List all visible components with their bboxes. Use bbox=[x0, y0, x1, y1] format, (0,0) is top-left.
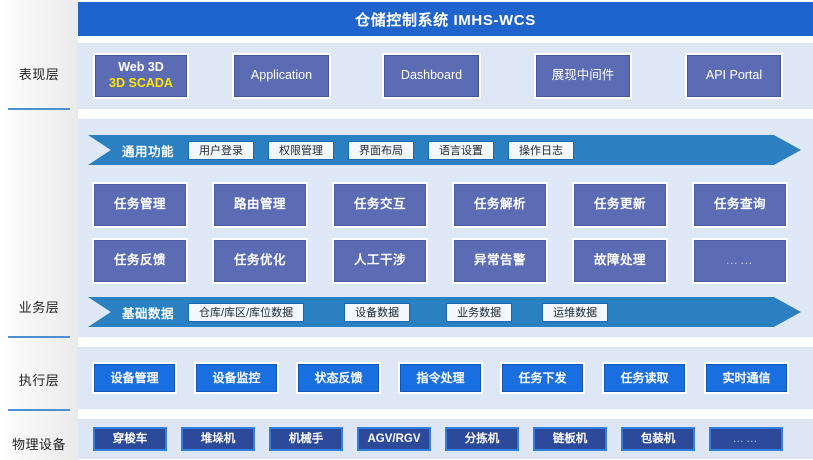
common-chip-layout[interactable]: 界面布局 bbox=[348, 141, 414, 160]
phys-box-sorter[interactable]: 分拣机 bbox=[445, 427, 519, 451]
common-chip-log[interactable]: 操作日志 bbox=[508, 141, 574, 160]
biz-box-task-optimize[interactable]: 任务优化 bbox=[214, 240, 306, 282]
base-data-title: 基础数据 bbox=[122, 303, 174, 322]
phys-box-shuttle[interactable]: 穿梭车 bbox=[93, 427, 167, 451]
exec-label: 设备管理 bbox=[110, 371, 158, 386]
exec-box-task-dispatch[interactable]: 任务下发 bbox=[502, 364, 583, 392]
architecture-diagram: 表现层 业务层 执行层 物理设备 仓储控制系统 IMHS-WCS Web 3D … bbox=[0, 0, 813, 460]
biz-box-manual-intervene[interactable]: 人工干涉 bbox=[334, 240, 426, 282]
biz-label: 任务解析 bbox=[474, 197, 526, 213]
pres-box-web3d-line1: Web 3D bbox=[118, 60, 164, 76]
page-title: 仓储控制系统 IMHS-WCS bbox=[355, 9, 536, 30]
exec-box-device-manage[interactable]: 设备管理 bbox=[94, 364, 175, 392]
biz-label: 路由管理 bbox=[234, 197, 286, 213]
biz-label: 任务更新 bbox=[594, 197, 646, 213]
pres-box-middleware-label: 展现中间件 bbox=[552, 68, 615, 84]
exec-box-command-process[interactable]: 指令处理 bbox=[400, 364, 481, 392]
phys-label: AGV/RGV bbox=[367, 432, 420, 446]
system-title-bar: 仓储控制系统 IMHS-WCS bbox=[78, 2, 813, 36]
rail-divider-2 bbox=[8, 336, 70, 338]
biz-label: 任务优化 bbox=[234, 253, 286, 269]
rail-label-execution: 执行层 bbox=[0, 370, 78, 389]
pres-box-dashboard-label: Dashboard bbox=[401, 68, 462, 84]
phys-label: 包装机 bbox=[641, 432, 676, 446]
pres-box-web3d[interactable]: Web 3D 3D SCADA bbox=[95, 55, 187, 97]
common-function-banner: 通用功能 用户登录 权限管理 界面布局 语言设置 操作日志 bbox=[88, 135, 801, 165]
exec-box-task-read[interactable]: 任务读取 bbox=[604, 364, 685, 392]
common-chip-language[interactable]: 语言设置 bbox=[428, 141, 494, 160]
phys-box-chain-conveyor[interactable]: 链板机 bbox=[533, 427, 607, 451]
common-chip-login[interactable]: 用户登录 bbox=[188, 141, 254, 160]
pres-box-application-label: Application bbox=[251, 68, 312, 84]
biz-label: 故障处理 bbox=[594, 253, 646, 269]
base-chip-device[interactable]: 设备数据 bbox=[344, 303, 410, 322]
common-chip-auth[interactable]: 权限管理 bbox=[268, 141, 334, 160]
biz-box-task-query[interactable]: 任务查询 bbox=[694, 184, 786, 226]
biz-label: 人工干涉 bbox=[354, 253, 406, 269]
phys-label: 分拣机 bbox=[465, 432, 500, 446]
rail-label-business: 业务层 bbox=[0, 297, 78, 316]
layer-rail: 表现层 业务层 执行层 物理设备 bbox=[0, 0, 78, 460]
rail-label-presentation: 表现层 bbox=[0, 64, 78, 83]
exec-label: 状态反馈 bbox=[314, 371, 362, 386]
exec-label: 实时通信 bbox=[722, 371, 770, 386]
phys-label: 堆垛机 bbox=[201, 432, 236, 446]
biz-box-task-manage[interactable]: 任务管理 bbox=[94, 184, 186, 226]
biz-box-route-manage[interactable]: 路由管理 bbox=[214, 184, 306, 226]
phys-box-robot-arm[interactable]: 机械手 bbox=[269, 427, 343, 451]
exec-box-status-feedback[interactable]: 状态反馈 bbox=[298, 364, 379, 392]
pres-box-application[interactable]: Application bbox=[234, 55, 329, 97]
phys-label: 链板机 bbox=[553, 432, 588, 446]
base-chip-ops[interactable]: 运维数据 bbox=[542, 303, 608, 322]
exec-label: 任务下发 bbox=[518, 371, 566, 386]
exec-label: 任务读取 bbox=[620, 371, 668, 386]
phys-label: 穿梭车 bbox=[113, 432, 148, 446]
phys-box-more[interactable]: …… bbox=[709, 427, 783, 451]
biz-label: …… bbox=[726, 253, 755, 269]
biz-label: 任务管理 bbox=[114, 197, 166, 213]
exec-label: 设备监控 bbox=[212, 371, 260, 386]
exec-label: 指令处理 bbox=[416, 371, 464, 386]
base-chip-business[interactable]: 业务数据 bbox=[446, 303, 512, 322]
biz-label: 任务交互 bbox=[354, 197, 406, 213]
phys-label: …… bbox=[733, 432, 760, 446]
rail-divider-3 bbox=[8, 409, 70, 411]
pres-box-api-portal-label: API Portal bbox=[706, 68, 762, 84]
biz-label: 异常告警 bbox=[474, 253, 526, 269]
exec-box-device-monitor[interactable]: 设备监控 bbox=[196, 364, 277, 392]
phys-box-packer[interactable]: 包装机 bbox=[621, 427, 695, 451]
biz-label: 任务反馈 bbox=[114, 253, 166, 269]
biz-box-task-interact[interactable]: 任务交互 bbox=[334, 184, 426, 226]
presentation-layer-band: Web 3D 3D SCADA Application Dashboard 展现… bbox=[78, 43, 813, 109]
rail-label-physical: 物理设备 bbox=[0, 434, 78, 453]
pres-box-web3d-line2: 3D SCADA bbox=[109, 76, 173, 92]
pres-box-dashboard[interactable]: Dashboard bbox=[384, 55, 479, 97]
biz-box-task-parse[interactable]: 任务解析 bbox=[454, 184, 546, 226]
biz-label: 任务查询 bbox=[714, 197, 766, 213]
pres-box-api-portal[interactable]: API Portal bbox=[687, 55, 781, 97]
physical-layer-band: 穿梭车 堆垛机 机械手 AGV/RGV 分拣机 链板机 包装机 …… bbox=[78, 419, 813, 459]
biz-box-exception-alarm[interactable]: 异常告警 bbox=[454, 240, 546, 282]
biz-box-task-feedback[interactable]: 任务反馈 bbox=[94, 240, 186, 282]
common-function-title: 通用功能 bbox=[122, 141, 174, 160]
base-chip-warehouse[interactable]: 仓库/库区/库位数据 bbox=[188, 303, 304, 322]
execution-layer-band: 设备管理 设备监控 状态反馈 指令处理 任务下发 任务读取 实时通信 bbox=[78, 347, 813, 409]
base-data-banner: 基础数据 仓库/库区/库位数据 设备数据 业务数据 运维数据 bbox=[88, 297, 801, 327]
pres-box-middleware[interactable]: 展现中间件 bbox=[536, 55, 630, 97]
business-layer-band: 通用功能 用户登录 权限管理 界面布局 语言设置 操作日志 任务管理 路由管理 … bbox=[78, 119, 813, 337]
phys-box-stacker[interactable]: 堆垛机 bbox=[181, 427, 255, 451]
exec-box-realtime-comm[interactable]: 实时通信 bbox=[706, 364, 787, 392]
biz-box-more[interactable]: …… bbox=[694, 240, 786, 282]
rail-divider-1 bbox=[8, 108, 70, 110]
phys-box-agv-rgv[interactable]: AGV/RGV bbox=[357, 427, 431, 451]
phys-label: 机械手 bbox=[289, 432, 324, 446]
biz-box-fault-handle[interactable]: 故障处理 bbox=[574, 240, 666, 282]
biz-box-task-update[interactable]: 任务更新 bbox=[574, 184, 666, 226]
